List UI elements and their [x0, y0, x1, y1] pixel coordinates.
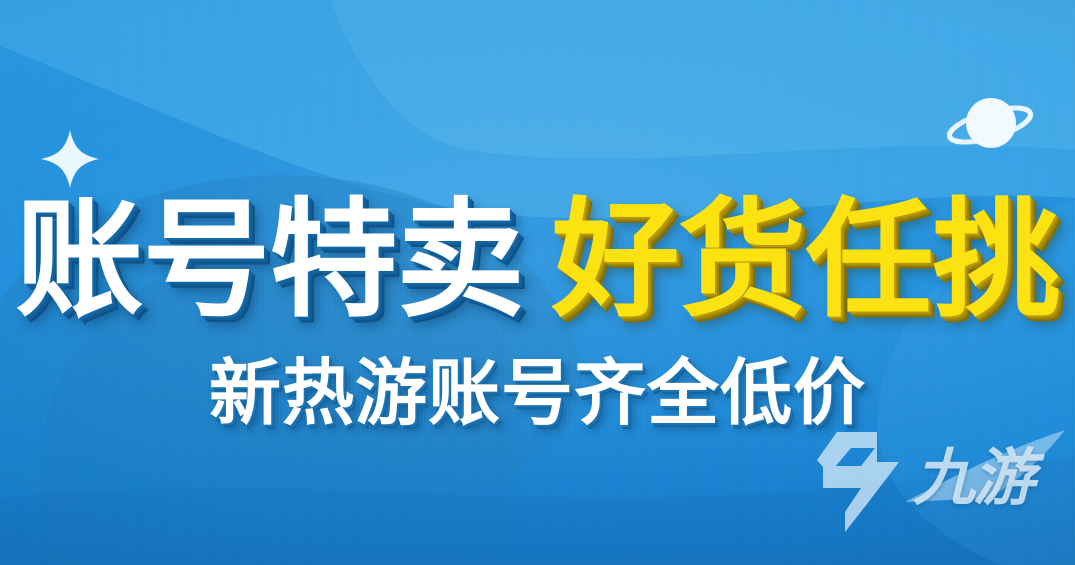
jiuyou-mark-icon [815, 430, 911, 534]
sparkle-icon [39, 128, 101, 190]
headline: 账号特卖 好货任挑 [0, 191, 1075, 331]
headline-secondary: 好货任挑 [552, 197, 1060, 325]
planet-icon [944, 85, 1036, 165]
subtitle: 新热游账号齐全低价 [0, 358, 1075, 430]
headline-primary: 账号特卖 [15, 197, 523, 325]
promo-banner: 账号特卖 好货任挑 新热游账号齐全低价 九游 [0, 0, 1075, 565]
watermark-brand-text: 九游 [913, 448, 1033, 510]
watermark-logo: 九游 [815, 428, 1067, 540]
